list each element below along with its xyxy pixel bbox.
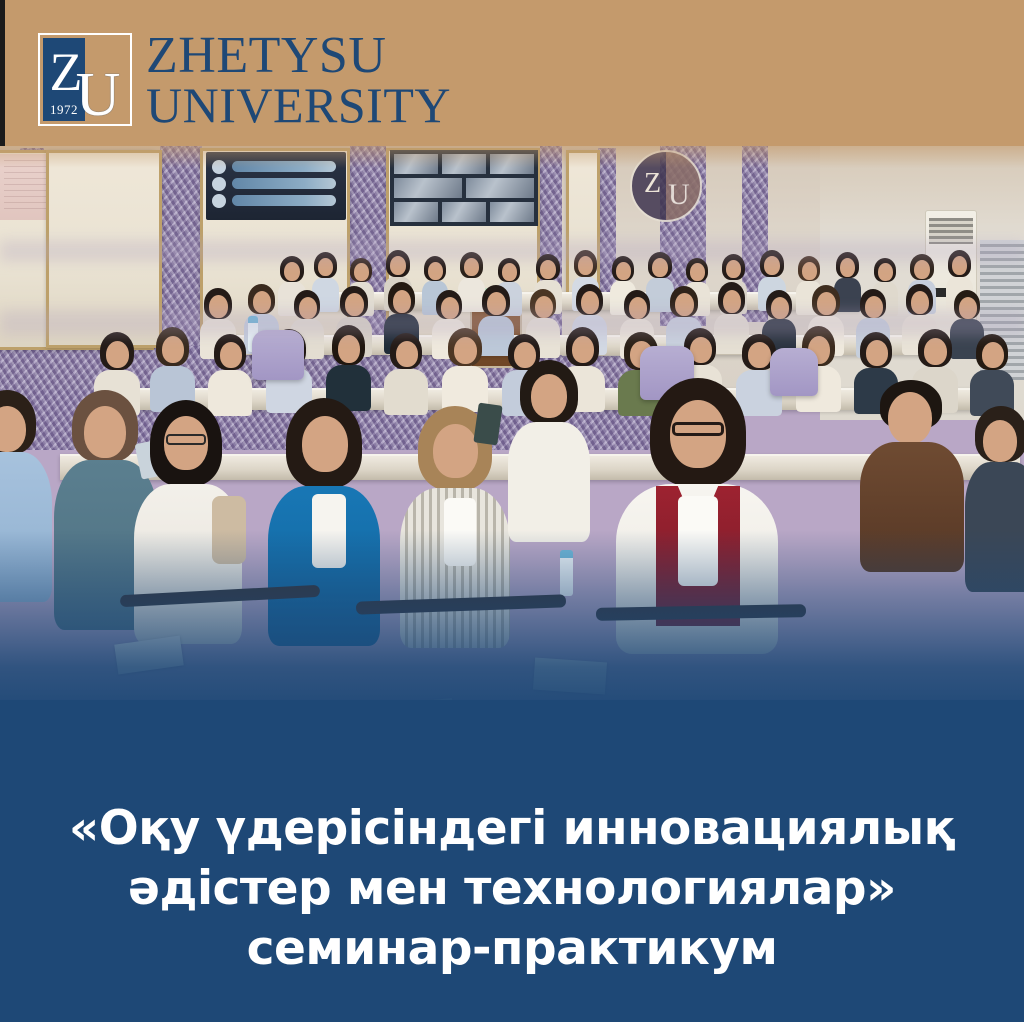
caption-line-2: әдістер мен технологиялар»: [128, 859, 896, 919]
wordmark-line-2: UNIVERSITY: [146, 81, 451, 129]
logo-founded-year: 1972: [44, 102, 84, 118]
header-left-edge: [0, 0, 5, 146]
zu-emblem-letter-z: Z: [644, 168, 661, 200]
auditorium-photo: Z U: [0, 120, 1024, 720]
zu-emblem-letter-u: U: [668, 178, 690, 212]
wordmark-line-1: ZHETYSU: [146, 31, 451, 81]
zhetysu-logo-mark: Z U 1972: [38, 33, 132, 126]
caption-banner: «Оқу үдерісіндегі инновациялық әдістер м…: [0, 700, 1024, 1022]
caption-line-3: семинар-практикум: [247, 919, 778, 979]
depth-haze: [0, 240, 1024, 262]
photo-bottom-fade: [0, 530, 1024, 720]
brand-wordmark: ZHETYSU UNIVERSITY: [146, 31, 451, 129]
poster-canvas: Z U: [0, 0, 1024, 1022]
smartphone: [473, 403, 502, 446]
brand-lockup: Z U 1972 ZHETYSU UNIVERSITY: [38, 31, 451, 129]
eyeglasses: [166, 434, 206, 445]
depth-haze: [0, 310, 1024, 336]
eyeglasses: [672, 422, 724, 436]
caption-line-1: «Оқу үдерісіндегі инновациялық: [69, 799, 955, 859]
